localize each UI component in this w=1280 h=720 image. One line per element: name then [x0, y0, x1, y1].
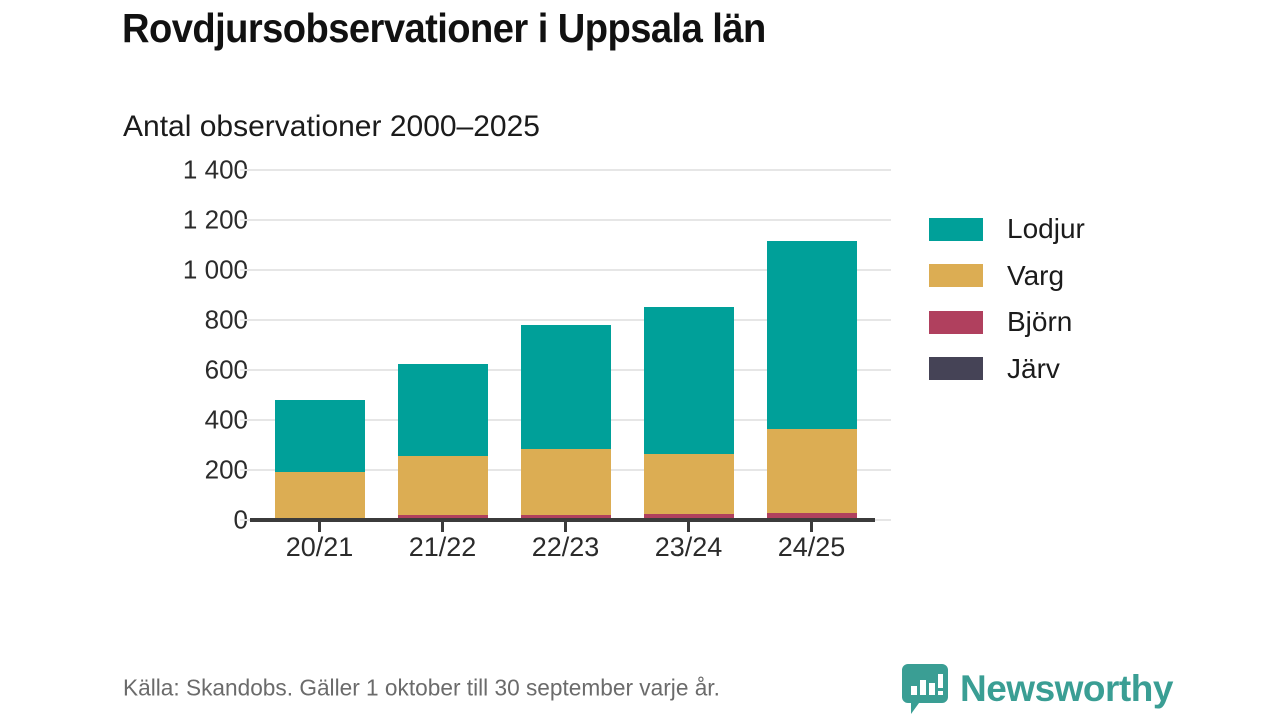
- legend-label: Björn: [1007, 306, 1072, 338]
- y-tick-mark: [873, 169, 891, 171]
- bar-segment-varg[interactable]: [521, 449, 611, 515]
- y-tick-mark: [873, 469, 891, 471]
- y-tick-mark: [873, 419, 891, 421]
- y-tick-mark: [873, 319, 891, 321]
- x-axis-labels: 20/2121/2222/2323/2424/25: [258, 532, 873, 576]
- bar-segment-varg[interactable]: [767, 429, 857, 513]
- x-tick-mark: [318, 521, 321, 532]
- y-tick-mark: [873, 219, 891, 221]
- bar-stack[interactable]: [644, 170, 734, 520]
- brand-logo: Newsworthy: [902, 664, 1173, 714]
- y-axis-tick-label: 200: [140, 455, 248, 486]
- newsworthy-bubble-bars-icon: [902, 664, 948, 714]
- y-tick-mark: [873, 519, 891, 521]
- y-tick-mark: [240, 169, 258, 171]
- y-tick-mark: [873, 369, 891, 371]
- bar-segment-lodjur[interactable]: [767, 241, 857, 430]
- y-tick-mark: [240, 219, 258, 221]
- legend-item-lodjur[interactable]: Lodjur: [929, 206, 1229, 253]
- x-tick-mark: [687, 521, 690, 532]
- x-tick-mark: [810, 521, 813, 532]
- y-axis-tick-label: 1 000: [140, 255, 248, 286]
- y-tick-mark: [240, 419, 258, 421]
- legend-label: Järv: [1007, 353, 1060, 385]
- legend-swatch: [929, 357, 983, 380]
- legend-item-varg[interactable]: Varg: [929, 253, 1229, 300]
- legend-swatch: [929, 311, 983, 334]
- x-axis-tick-label: 24/25: [750, 532, 873, 563]
- legend: LodjurVargBjörnJärv: [929, 206, 1229, 392]
- bar-stack[interactable]: [398, 170, 488, 520]
- y-axis-tick-label: 800: [140, 305, 248, 336]
- bar-segment-lodjur[interactable]: [521, 325, 611, 450]
- page-title: Rovdjursobservationer i Uppsala län: [122, 4, 1089, 53]
- y-tick-mark: [240, 269, 258, 271]
- legend-swatch: [929, 218, 983, 241]
- legend-swatch: [929, 264, 983, 287]
- x-tick-mark: [564, 521, 567, 532]
- x-axis-tick-label: 23/24: [627, 532, 750, 563]
- bar-segment-varg[interactable]: [398, 456, 488, 515]
- y-axis-tick-label: 0: [140, 505, 248, 536]
- bar-stack[interactable]: [521, 170, 611, 520]
- y-axis-tick-label: 400: [140, 405, 248, 436]
- bar-stack[interactable]: [275, 170, 365, 520]
- chart-subtitle: Antal observationer 2000–2025: [123, 110, 540, 144]
- x-axis-tick-label: 21/22: [381, 532, 504, 563]
- bar-stack[interactable]: [767, 170, 857, 520]
- legend-item-järv[interactable]: Järv: [929, 346, 1229, 393]
- source-note: Källa: Skandobs. Gäller 1 oktober till 3…: [123, 675, 720, 702]
- bar-segment-varg[interactable]: [644, 454, 734, 514]
- legend-item-björn[interactable]: Björn: [929, 299, 1229, 346]
- bar-segment-varg[interactable]: [275, 472, 365, 518]
- legend-label: Varg: [1007, 260, 1064, 292]
- bar-segment-lodjur[interactable]: [275, 400, 365, 472]
- y-tick-mark: [240, 369, 258, 371]
- x-axis-line: [250, 518, 875, 522]
- x-tick-mark: [441, 521, 444, 532]
- y-tick-mark: [873, 269, 891, 271]
- y-axis-tick-label: 1 200: [140, 205, 248, 236]
- x-axis-tick-label: 22/23: [504, 532, 627, 563]
- bar-segment-lodjur[interactable]: [398, 364, 488, 457]
- y-tick-mark: [240, 469, 258, 471]
- y-axis-tick-label: 1 400: [140, 155, 248, 186]
- x-axis-tick-label: 20/21: [258, 532, 381, 563]
- y-axis-tick-label: 600: [140, 355, 248, 386]
- y-axis-labels: 02004006008001 0001 2001 400: [140, 170, 248, 520]
- legend-label: Lodjur: [1007, 213, 1085, 245]
- y-tick-mark: [240, 319, 258, 321]
- brand-name: Newsworthy: [960, 668, 1173, 710]
- bar-segment-lodjur[interactable]: [644, 307, 734, 455]
- plot-area: [258, 170, 873, 520]
